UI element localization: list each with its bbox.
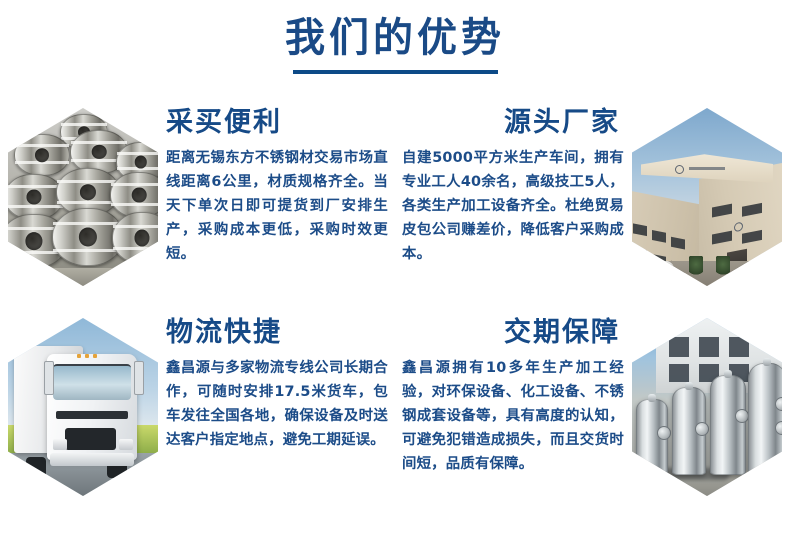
card-body: 自建5000平方米生产车间，拥有专业工人40余名，高级技工5人，各类生产加工设备… — [402, 146, 624, 266]
title-underline-rule — [293, 70, 498, 74]
steel-coils-photo — [8, 108, 158, 286]
advantage-cards-grid: 采买便利 距离无锡东方不锈钢材交易市场直线距离6公里，材质规格齐全。当天下单次日… — [0, 95, 790, 540]
card-text-source-factory: 源头厂家 自建5000平方米生产车间，拥有专业工人40余名，高级技工5人，各类生… — [402, 106, 624, 266]
card-body: 鑫昌源拥有10多年生产加工经验，对环保设备、化工设备、不锈钢成套设备等，具有高度… — [402, 356, 624, 476]
page-header: 我们的优势 — [0, 14, 790, 74]
card-body: 距离无锡东方不锈钢材交易市场直线距离6公里，材质规格齐全。当天下单次日即可提货到… — [166, 146, 388, 266]
advantage-card-fast-logistics: 物流快捷 鑫昌源与多家物流专线公司长期合作，可随时安排17.5米货车，包车发往全… — [6, 310, 391, 520]
card-text-fast-logistics: 物流快捷 鑫昌源与多家物流专线公司长期合作，可随时安排17.5米货车，包车发往全… — [166, 316, 388, 452]
advantage-card-purchase-convenience: 采买便利 距离无锡东方不锈钢材交易市场直线距离6公里，材质规格齐全。当天下单次日… — [6, 100, 391, 295]
advantage-card-source-factory: 源头厂家 自建5000平方米生产车间，拥有专业工人40余名，高级技工5人，各类生… — [396, 100, 784, 295]
advantages-page: 我们的优势 — [0, 0, 790, 548]
card-text-delivery-guarantee: 交期保障 鑫昌源拥有10多年生产加工经验，对环保设备、化工设备、不锈钢成套设备等… — [402, 316, 624, 476]
factory-building-photo — [632, 108, 782, 286]
stainless-tanks-photo — [632, 318, 782, 496]
page-title: 我们的优势 — [0, 14, 790, 62]
card-title: 采买便利 — [166, 106, 388, 140]
delivery-truck-photo — [8, 318, 158, 496]
card-title: 源头厂家 — [402, 106, 624, 140]
card-body: 鑫昌源与多家物流专线公司长期合作，可随时安排17.5米货车，包车发往全国各地，确… — [166, 356, 388, 452]
advantage-card-delivery-guarantee: 交期保障 鑫昌源拥有10多年生产加工经验，对环保设备、化工设备、不锈钢成套设备等… — [396, 310, 784, 520]
card-title: 物流快捷 — [166, 316, 388, 350]
card-text-purchase-convenience: 采买便利 距离无锡东方不锈钢材交易市场直线距离6公里，材质规格齐全。当天下单次日… — [166, 106, 388, 266]
card-title: 交期保障 — [402, 316, 624, 350]
